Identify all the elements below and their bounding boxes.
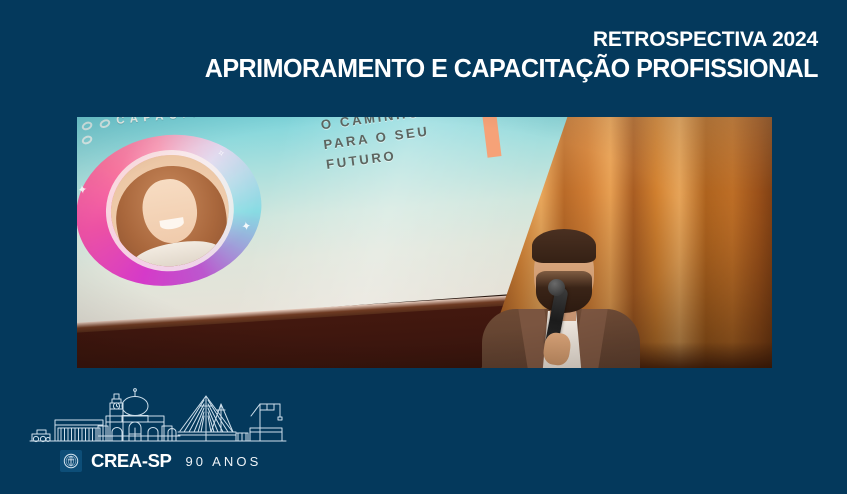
event-photo: CREA-SP CAPACITA ✦ ✦ ✧ O CAMINHO PARA O … xyxy=(77,117,772,368)
crea-seal-icon xyxy=(60,450,82,472)
crea-sp-wordmark: CREA-SP 90 ANOS xyxy=(28,450,290,472)
heading-block: RETROSPECTIVA 2024 APRIMORAMENTO E CAPAC… xyxy=(118,28,818,84)
sao-paulo-skyline-icon xyxy=(28,386,290,444)
anniversary-label: 90 ANOS xyxy=(185,455,261,468)
crea-sp-label: CREA-SP xyxy=(91,452,171,471)
slide-portrait-badge: ✦ ✦ ✧ xyxy=(77,122,273,300)
eyebrow-title: RETROSPECTIVA 2024 xyxy=(118,28,818,52)
speaker-figure xyxy=(472,217,652,368)
retrospective-slide: RETROSPECTIVA 2024 APRIMORAMENTO E CAPAC… xyxy=(0,0,847,494)
page-title: APRIMORAMENTO E CAPACITAÇÃO PROFISSIONAL xyxy=(129,55,819,85)
footer-logo: CREA-SP 90 ANOS xyxy=(28,386,290,472)
